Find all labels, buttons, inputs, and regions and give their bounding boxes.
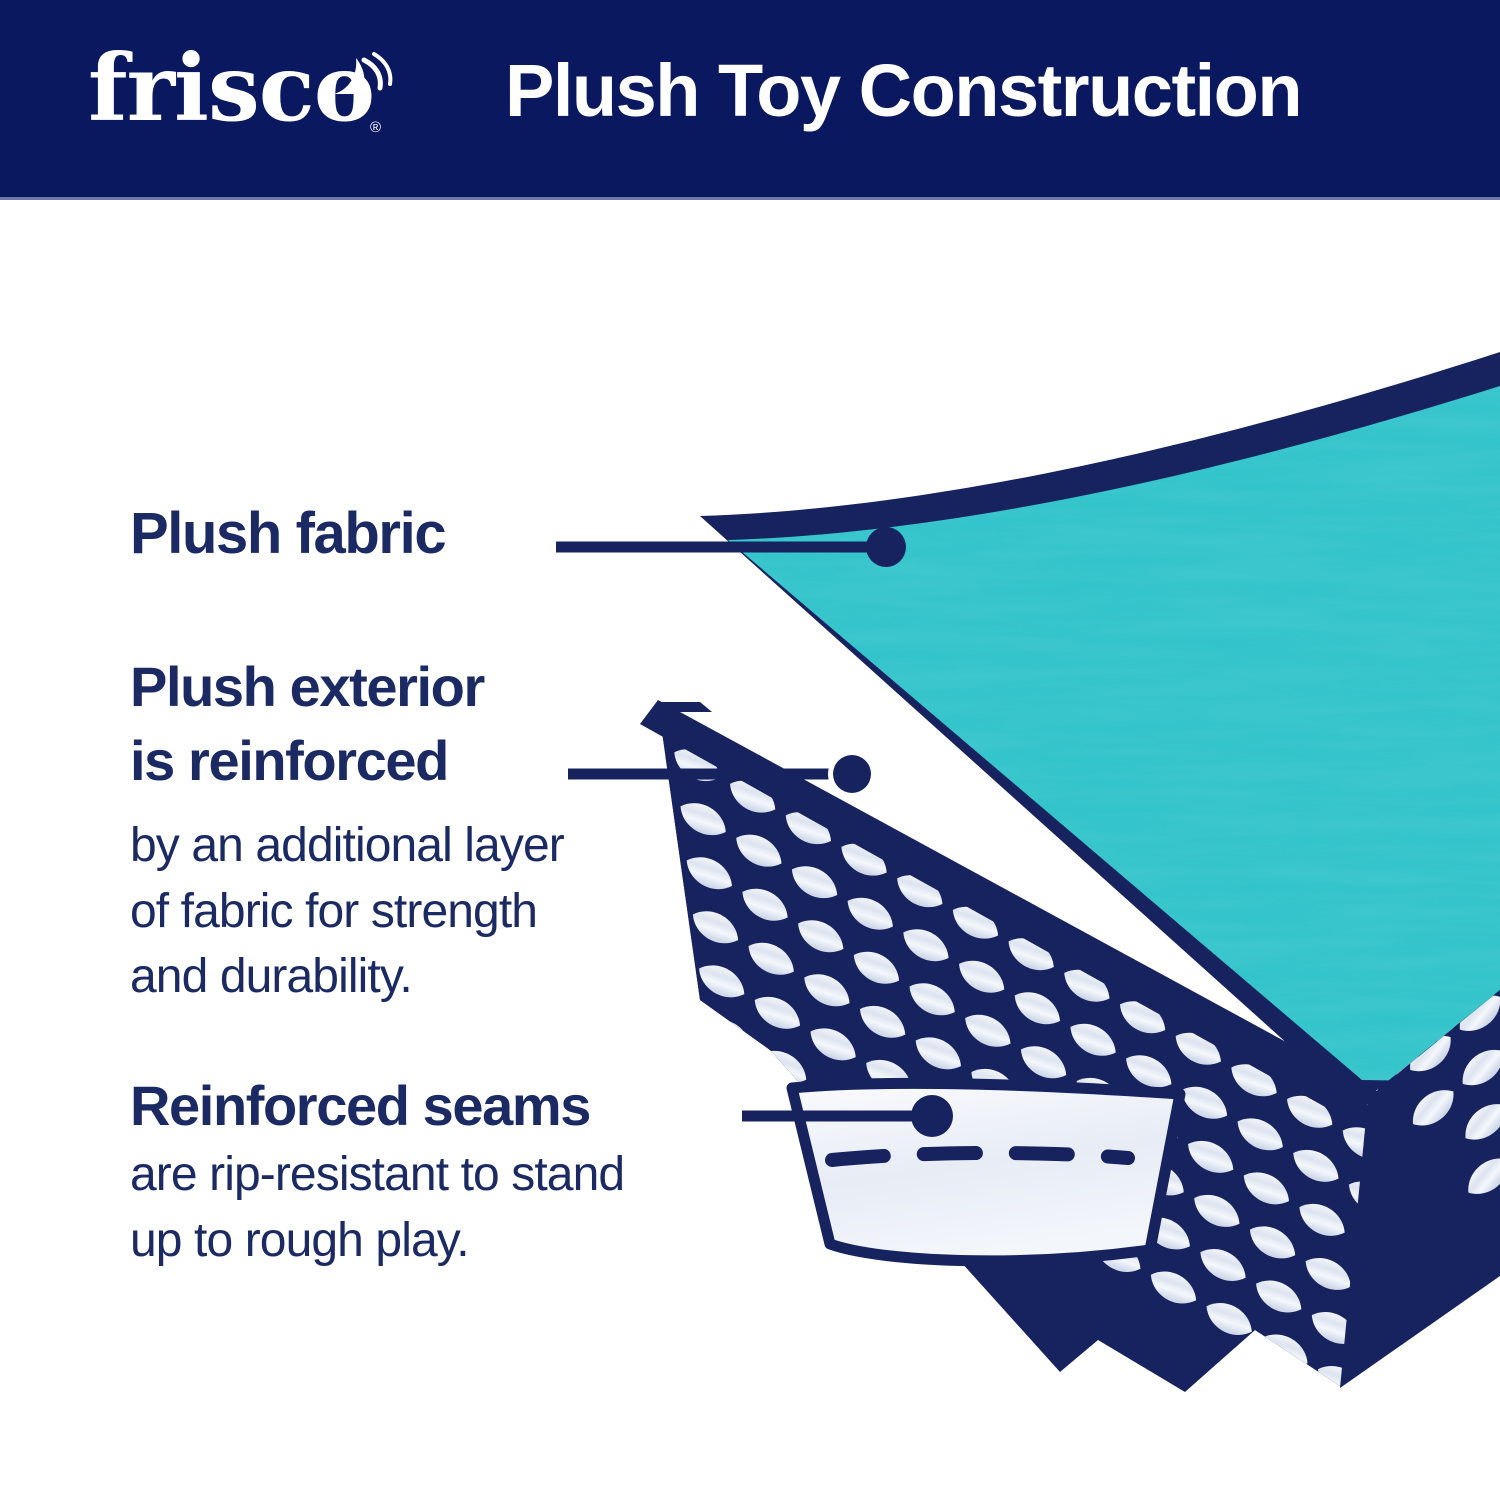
plush-fabric-panel [700,352,1500,1120]
reinforcement-mesh-band [522,600,1500,1450]
callout-reinforced-seams: Reinforced seams are rip-resistant to st… [130,1078,624,1274]
page-title: Plush Toy Construction [505,50,1301,133]
leader-line-reinforced-seams [742,1095,953,1137]
callout-body: are rip-resistant to stand up to rough p… [130,1142,624,1274]
mesh-band-edge [640,700,1378,1122]
callout-plush-fabric: Plush fabric [130,505,445,563]
leader-line-plush-fabric [556,527,906,567]
leader-dot-reinforced-seams [911,1095,953,1137]
callout-heading: Plush fabric [130,505,445,563]
header-bar: frisco ® Plush Toy Construction [0,0,1500,200]
leader-line-plush-exterior [568,750,876,798]
callout-heading: Reinforced seams [130,1078,624,1134]
callout-heading: Plush exterior is reinforced [130,650,564,799]
swoosh-icon [324,50,394,110]
registered-mark: ® [370,120,381,135]
reinforcement-mesh-band-return [1284,833,1500,1420]
reinforced-seam-flap [792,1083,1180,1261]
leader-dot-plush-exterior [833,755,871,793]
stitch-dashed-line [832,1153,1128,1160]
leader-dot-plush-fabric [866,527,906,567]
frisco-logo: frisco ® [88,44,388,154]
callout-body: by an additional layer of fabric for str… [130,813,564,1010]
infographic-canvas: frisco ® Plush Toy Construction [0,0,1500,1500]
callout-plush-exterior-reinforced: Plush exterior is reinforced by an addit… [130,650,564,1010]
